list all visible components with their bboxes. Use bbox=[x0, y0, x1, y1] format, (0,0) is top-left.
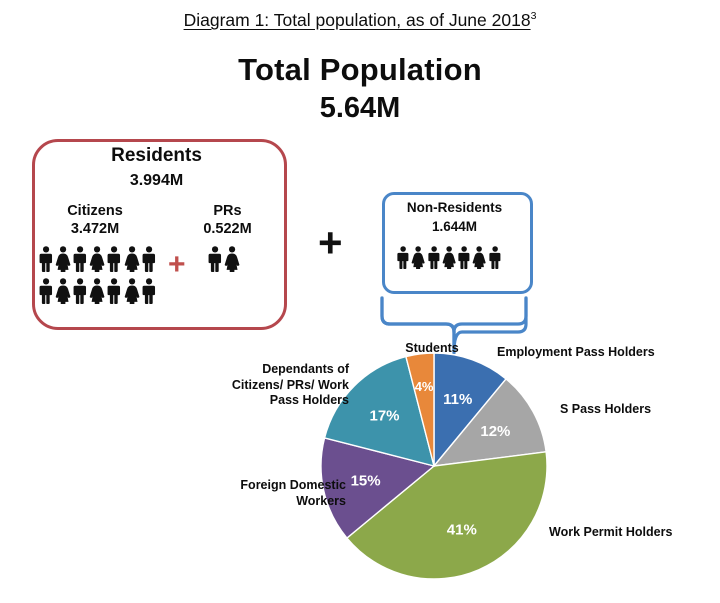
pie-callout-employment-pass: Employment Pass Holders bbox=[497, 345, 697, 361]
female-figure-icon bbox=[55, 246, 71, 272]
pie-slice-value-label: 12% bbox=[480, 423, 510, 440]
total-population-value: 5.64M bbox=[0, 92, 720, 125]
pie-callout-dependants: Dependants ofCitizens/ PRs/ WorkPass Hol… bbox=[231, 362, 349, 409]
female-figure-icon bbox=[124, 246, 140, 272]
pie-slice-value-label: 4% bbox=[415, 379, 434, 394]
residents-title: Residents bbox=[32, 145, 281, 167]
pie-slice-value-label: 17% bbox=[369, 407, 399, 424]
infographic-canvas: Diagram 1: Total population, as of June … bbox=[0, 0, 720, 603]
total-population-label: Total Population bbox=[0, 52, 720, 88]
non-residents-pie-chart: 11%12%41%15%17%4% bbox=[320, 352, 548, 580]
pie-callout-s-pass: S Pass Holders bbox=[560, 402, 710, 418]
male-figure-icon bbox=[106, 278, 122, 304]
diagram-caption: Diagram 1: Total population, as of June … bbox=[0, 10, 720, 31]
plus-icon-residents: + bbox=[168, 250, 186, 280]
male-figure-icon bbox=[488, 246, 502, 269]
female-figure-icon bbox=[411, 246, 425, 269]
pie-slice-value-label: 41% bbox=[447, 521, 477, 538]
non-residents-value: 1.644M bbox=[382, 219, 527, 234]
male-figure-icon bbox=[141, 278, 157, 304]
prs-figures-row bbox=[207, 246, 241, 272]
male-figure-icon bbox=[72, 278, 88, 304]
pie-callout-foreign-domestic: Foreign DomesticWorkers bbox=[226, 478, 346, 509]
residents-value: 3.994M bbox=[32, 172, 281, 190]
diagram-caption-text: Diagram 1: Total population, as of June … bbox=[184, 10, 531, 30]
male-figure-icon bbox=[72, 246, 88, 272]
prs-label: PRs bbox=[185, 203, 270, 219]
pie-slice-value-label: 15% bbox=[351, 472, 381, 489]
female-figure-icon bbox=[224, 246, 240, 272]
prs-value: 0.522M bbox=[185, 221, 270, 237]
pie-callout-students: Students bbox=[388, 341, 476, 357]
non-residents-title: Non-Residents bbox=[382, 200, 527, 215]
female-figure-icon bbox=[442, 246, 456, 269]
female-figure-icon bbox=[89, 246, 105, 272]
male-figure-icon bbox=[106, 246, 122, 272]
female-figure-icon bbox=[89, 278, 105, 304]
male-figure-icon bbox=[141, 246, 157, 272]
plus-icon-total: + bbox=[318, 222, 343, 264]
pie-slice-value-label: 11% bbox=[443, 391, 472, 408]
female-figure-icon bbox=[55, 278, 71, 304]
male-figure-icon bbox=[207, 246, 223, 272]
male-figure-icon bbox=[457, 246, 471, 269]
pie-callout-work-permit: Work Permit Holders bbox=[549, 525, 719, 541]
male-figure-icon bbox=[396, 246, 410, 269]
citizens-value: 3.472M bbox=[40, 221, 150, 237]
citizens-label: Citizens bbox=[40, 203, 150, 219]
male-figure-icon bbox=[38, 246, 54, 272]
male-figure-icon bbox=[427, 246, 441, 269]
female-figure-icon bbox=[124, 278, 140, 304]
footnote-marker: 3 bbox=[531, 10, 537, 22]
female-figure-icon bbox=[472, 246, 486, 269]
male-figure-icon bbox=[38, 278, 54, 304]
non-residents-figures-row bbox=[396, 246, 503, 269]
citizens-figures-row-2 bbox=[38, 278, 158, 304]
citizens-figures-row-1 bbox=[38, 246, 158, 272]
pie-svg: 11%12%41%15%17%4% bbox=[320, 352, 548, 580]
